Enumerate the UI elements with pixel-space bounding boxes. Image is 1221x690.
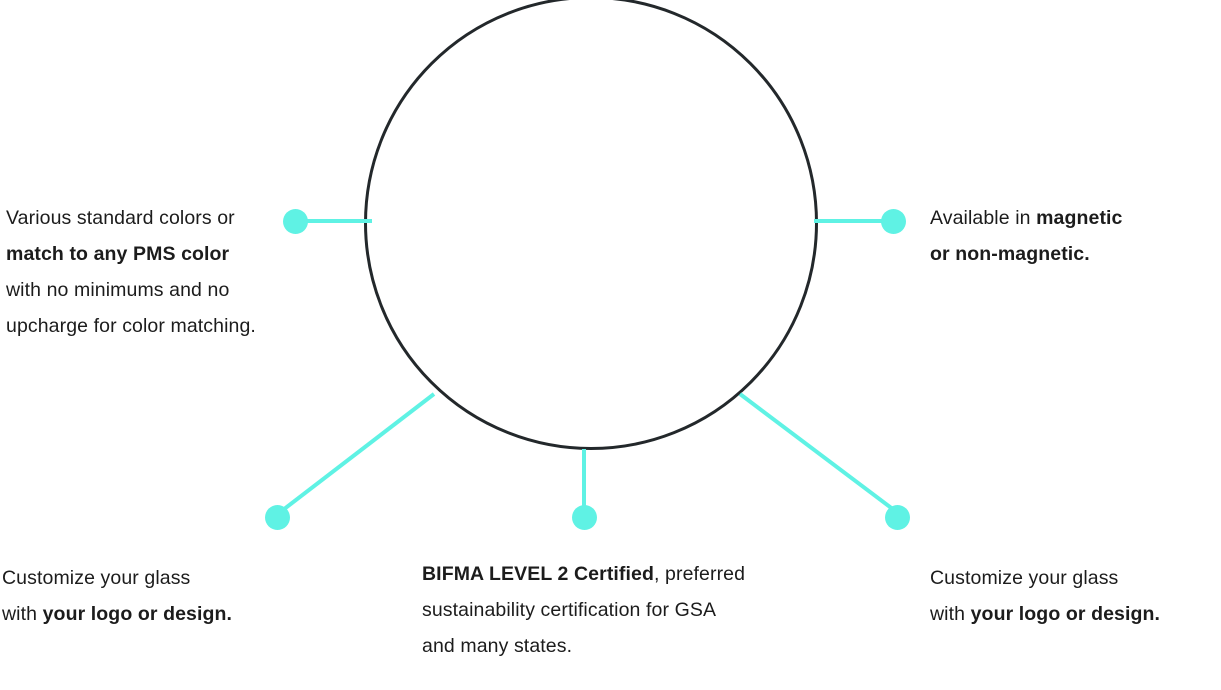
center-circle-outline [364,0,818,450]
callout-dot-customize-left[interactable] [265,505,290,530]
callout-bifma-line-2: sustainability certification for GSA [422,592,792,628]
callout-magnetic-prefix: Available in [930,207,1036,229]
callout-customize-right: Customize your glass with your logo or d… [930,560,1221,632]
callout-customize-right-line-2: with your logo or design. [930,596,1221,632]
callout-bifma-emphasis: BIFMA LEVEL 2 Certified [422,563,654,585]
callout-bifma-suffix: , preferred [654,563,745,585]
callout-bifma-line-3: and many states. [422,628,792,664]
callout-customize-left-line-2: with your logo or design. [2,596,302,632]
callout-magnetic-emphasis-2: or non-magnetic. [930,243,1090,265]
callout-colors-line-2: match to any PMS color [6,236,306,272]
callout-magnetic-emphasis-1: magnetic [1036,207,1122,229]
callout-colors: Various standard colors or match to any … [6,200,306,344]
callout-customize-left-prefix: with [2,603,43,625]
callout-bifma-line-1: BIFMA LEVEL 2 Certified, preferred [422,556,792,592]
callout-customize-left: Customize your glass with your logo or d… [2,560,302,632]
callout-customize-right-prefix: with [930,603,971,625]
callout-customize-right-line-1: Customize your glass [930,560,1221,596]
callout-customize-right-emphasis: your logo or design. [971,603,1160,625]
callout-customize-left-emphasis: your logo or design. [43,603,232,625]
callout-dot-bifma[interactable] [572,505,597,530]
callout-bifma: BIFMA LEVEL 2 Certified, preferred susta… [422,556,792,664]
callout-magnetic-line-2: or non-magnetic. [930,236,1220,272]
callout-colors-line-4: upcharge for color matching. [6,308,306,344]
callout-magnetic: Available in magnetic or non-magnetic. [930,200,1220,272]
callout-magnetic-line-1: Available in magnetic [930,200,1220,236]
callout-dot-customize-right[interactable] [885,505,910,530]
callout-colors-emphasis: match to any PMS color [6,243,229,265]
center-circle-group [364,0,818,450]
callout-dot-magnetic[interactable] [881,209,906,234]
callout-colors-line-1: Various standard colors or [6,200,306,236]
callout-colors-line-3: with no minimums and no [6,272,306,308]
callout-customize-left-line-1: Customize your glass [2,560,302,596]
